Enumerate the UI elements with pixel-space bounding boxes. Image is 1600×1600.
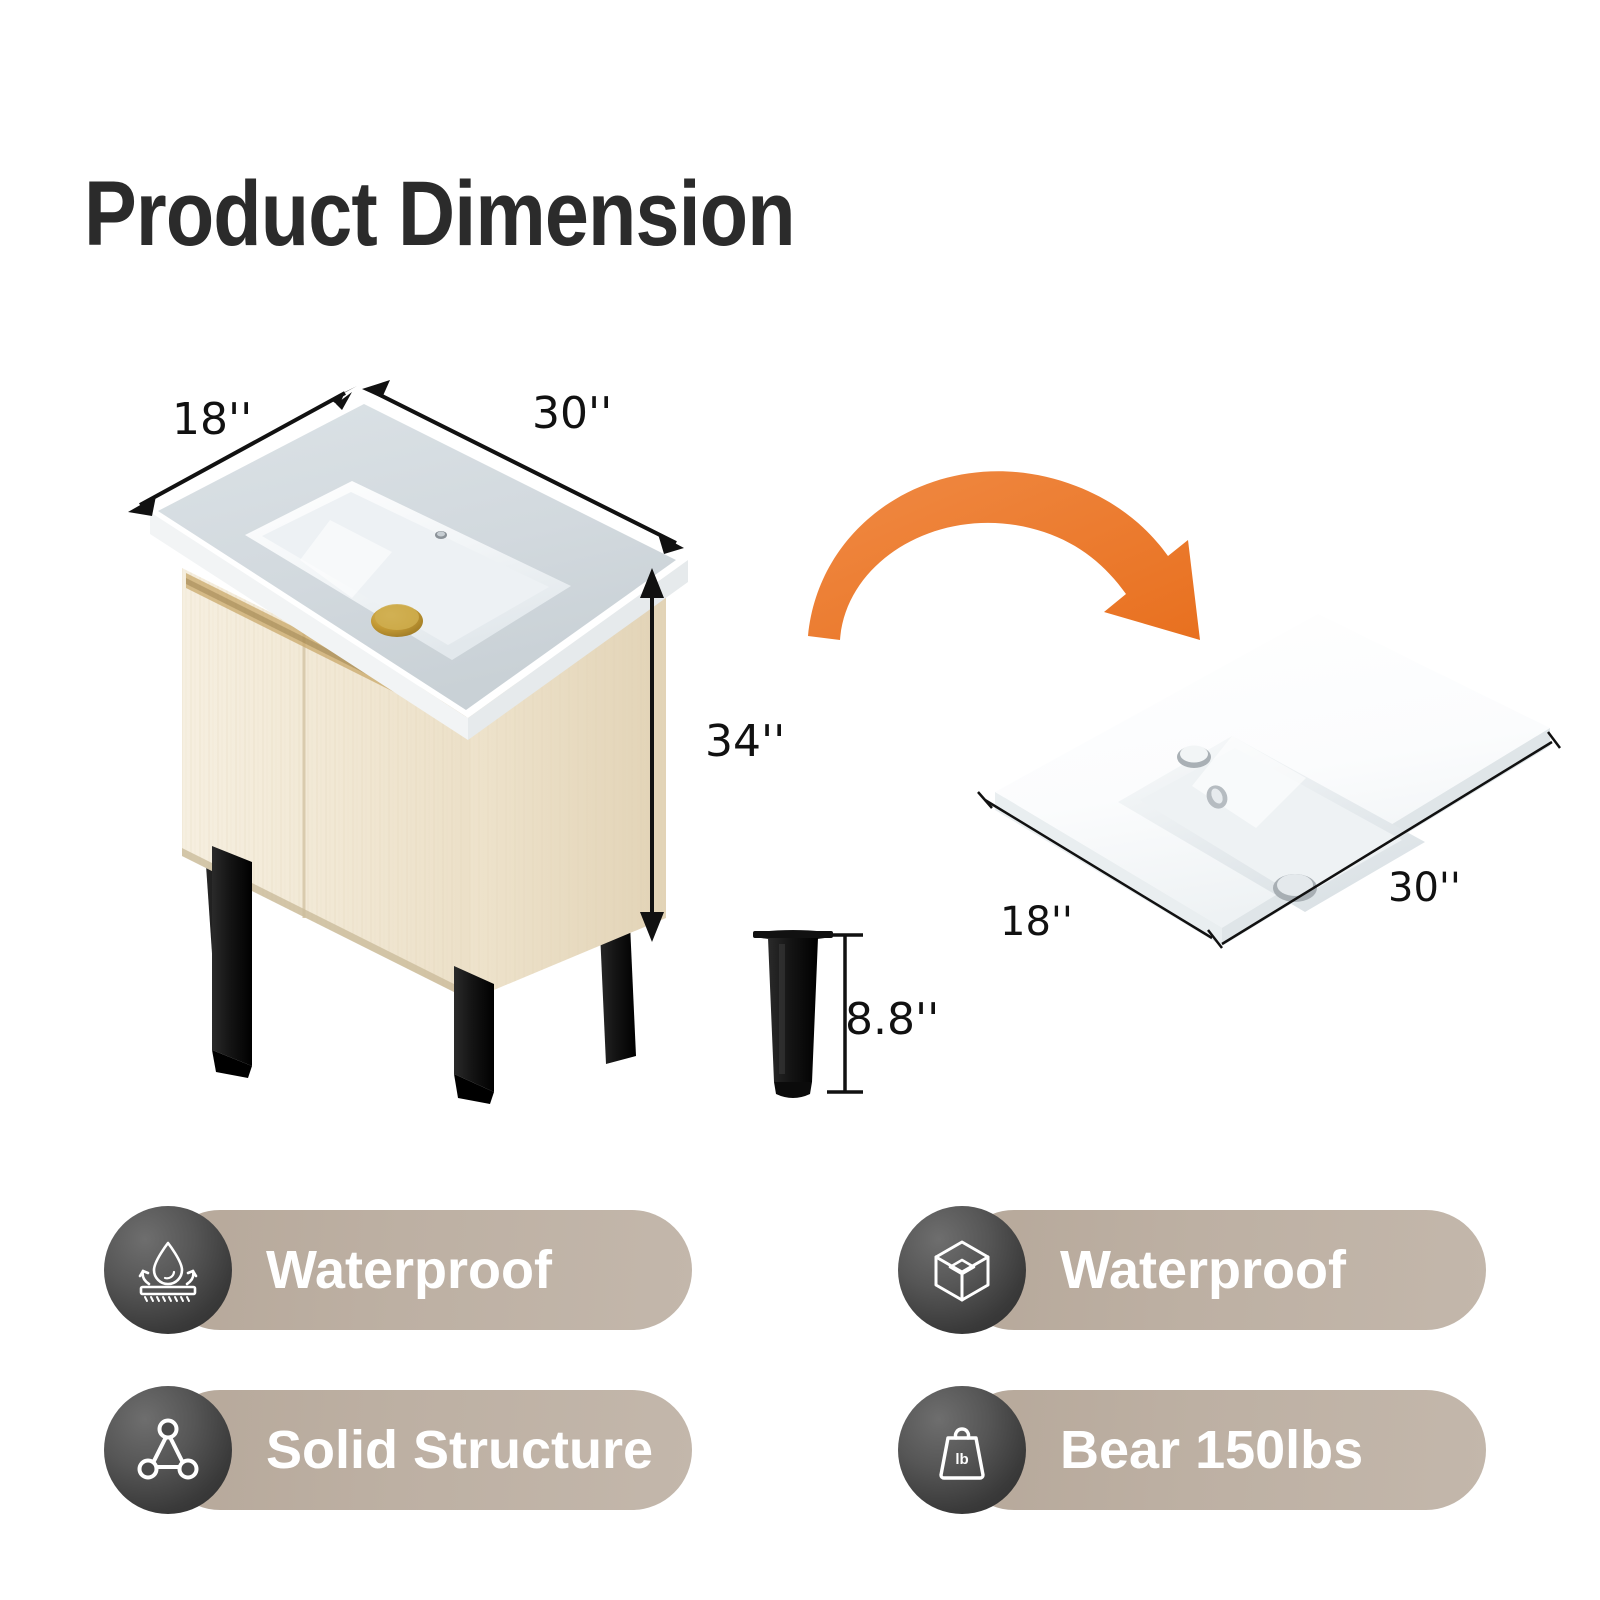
- pill-label: Bear 150lbs: [1060, 1423, 1363, 1477]
- weight-icon-unit-label: lb: [955, 1451, 968, 1468]
- dimension-label-vanity-height: 34'': [705, 720, 785, 764]
- feature-pill-waterproof-body: Waterproof: [898, 1206, 1346, 1334]
- dimension-label-sink-width: 30'': [1388, 868, 1461, 908]
- dimension-label-sink-depth: 18'': [1000, 902, 1073, 942]
- pill-icon-badge: [898, 1206, 1026, 1334]
- pill-icon-badge: [104, 1386, 232, 1514]
- water-drop-repel-icon: [129, 1231, 207, 1309]
- vanity-dimension-arrows: [140, 391, 676, 930]
- dimension-label-vanity-depth: 18'': [172, 398, 252, 442]
- page-title: Product Dimension: [84, 168, 795, 260]
- feature-pill-load-capacity: lb Bear 150lbs: [898, 1386, 1363, 1514]
- cube-icon: [924, 1232, 1000, 1308]
- feature-pill-solid-structure: Solid Structure: [104, 1386, 653, 1514]
- vanity-illustration: [150, 398, 688, 1104]
- curved-arrow-icon: [808, 471, 1200, 640]
- product-dimension-infographic: Product Dimension: [0, 0, 1600, 1600]
- pill-label: Waterproof: [266, 1243, 552, 1297]
- pill-label: Solid Structure: [266, 1423, 653, 1477]
- vanity-arrowheads: [128, 380, 684, 942]
- pill-icon-badge: [104, 1206, 232, 1334]
- dimension-label-vanity-width: 30'': [532, 392, 612, 436]
- pill-icon-badge: lb: [898, 1386, 1026, 1514]
- weight-icon: lb: [924, 1412, 1000, 1488]
- triangle-nodes-icon: [130, 1412, 206, 1488]
- sink-top-illustration: [995, 614, 1550, 946]
- feature-pill-waterproof-surface: Waterproof: [104, 1206, 552, 1334]
- leg-illustration: [753, 930, 833, 1098]
- pill-label: Waterproof: [1060, 1243, 1346, 1297]
- dimension-label-leg-height: 8.8'': [845, 998, 939, 1042]
